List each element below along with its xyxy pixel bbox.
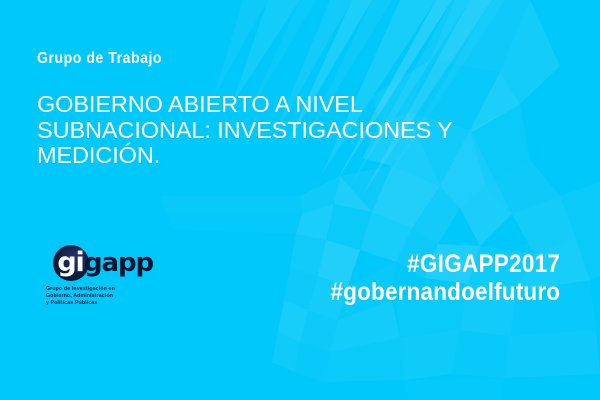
logo-gapp-text: gapp xyxy=(84,248,153,278)
hashtag-primary: #GIGAPP2017 xyxy=(330,250,560,278)
hashtag-block: #GIGAPP2017 #gobernandoelfuturo xyxy=(305,250,560,307)
logo-tagline-line-2: Gobierno, Administración xyxy=(46,293,154,300)
logo-tagline: Grupo de Investigación en Gobierno, Admi… xyxy=(46,286,154,307)
logo-mark: gi gapp xyxy=(37,243,152,284)
slide-content: Grupo de Trabajo GOBIERNO ABIERTO A NIVE… xyxy=(0,0,600,400)
conference-slide: Grupo de Trabajo GOBIERNO ABIERTO A NIVE… xyxy=(0,0,600,400)
kicker-label: Grupo de Trabajo xyxy=(37,50,162,68)
gigapp-logo: gi gapp Grupo de Investigación en Gobier… xyxy=(37,243,152,284)
hashtag-secondary: #gobernandoelfuturo xyxy=(330,278,560,307)
logo-tagline-line-1: Grupo de Investigación en xyxy=(46,286,154,293)
logo-tagline-line-3: y Políticas Públicas xyxy=(46,300,154,307)
page-title: GOBIERNO ABIERTO A NIVEL SUBNACIONAL: IN… xyxy=(37,92,457,169)
